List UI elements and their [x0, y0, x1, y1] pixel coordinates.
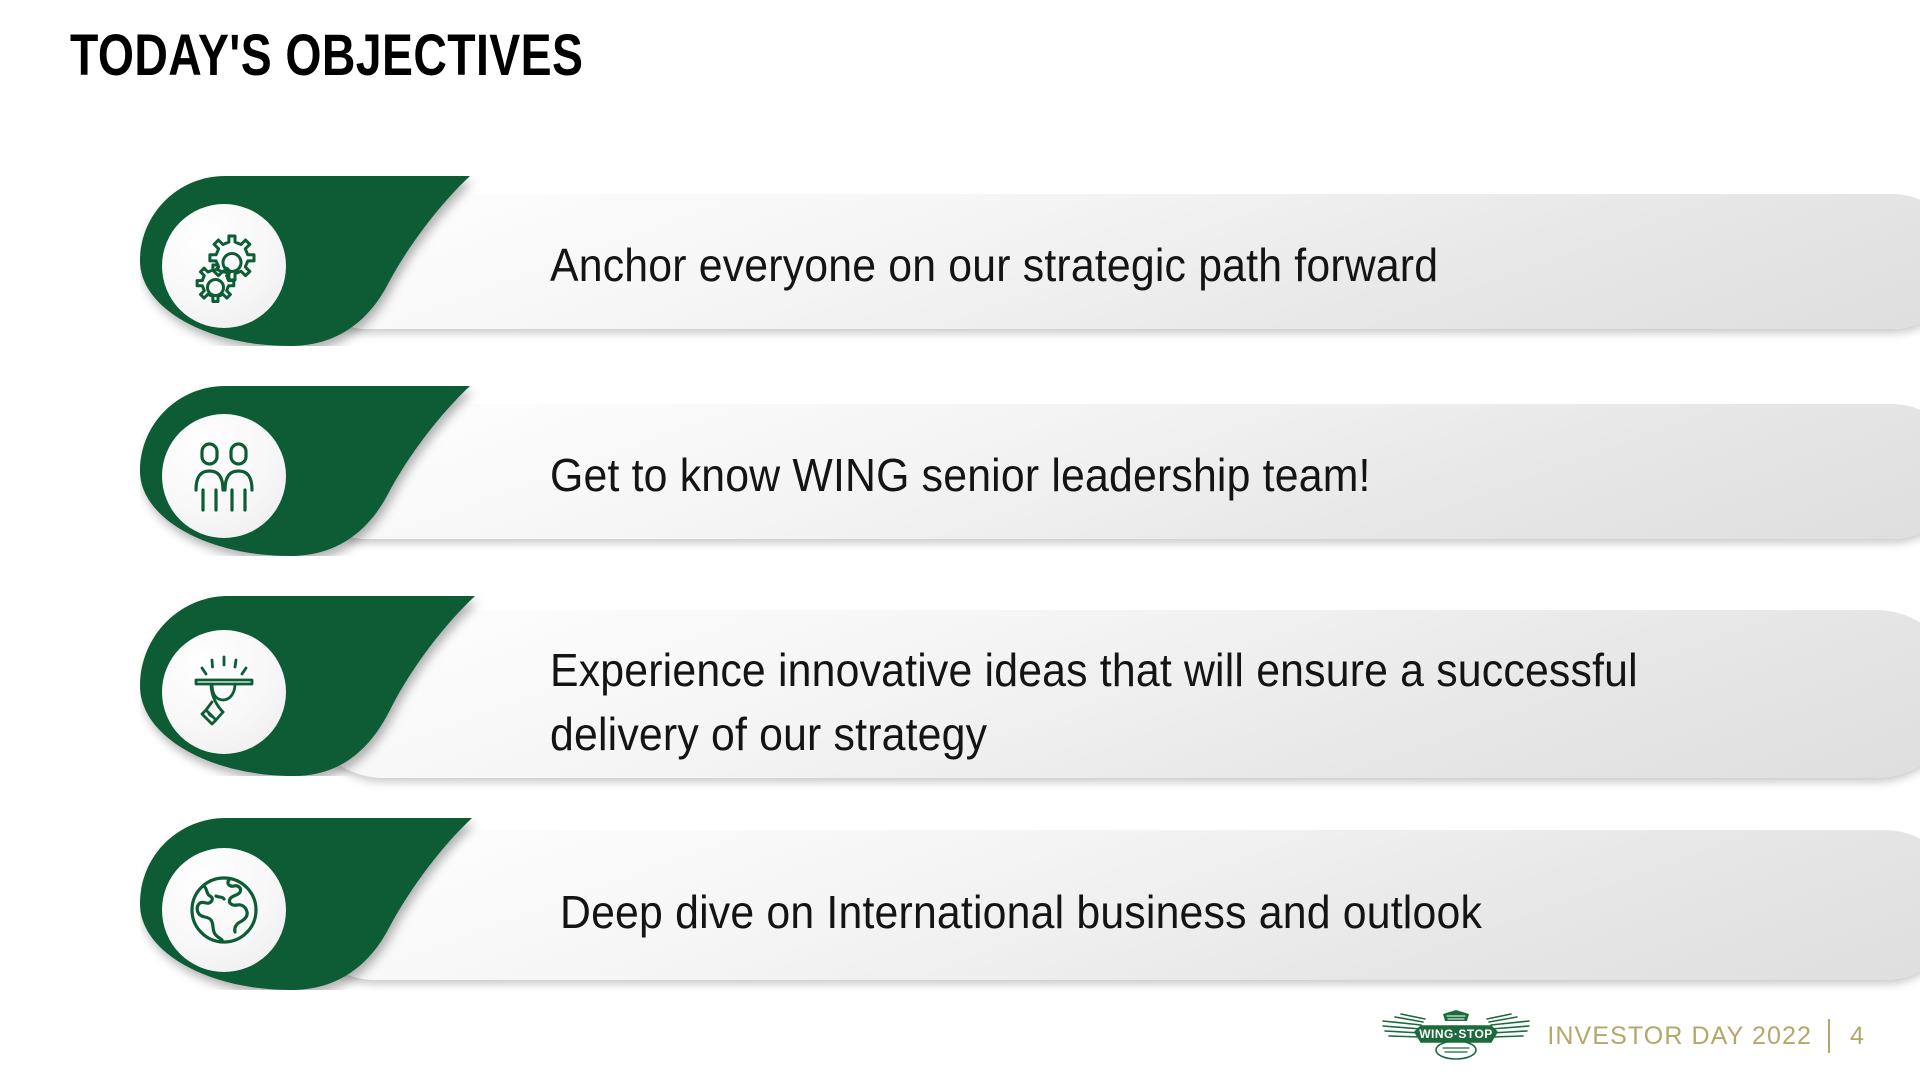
objective-icon-circle [162, 848, 286, 972]
objective-icon-circle [162, 414, 286, 538]
footer-divider [1828, 1019, 1830, 1053]
objective-icon-circle [162, 204, 286, 328]
objective-text: Deep dive on International business and … [560, 880, 1806, 944]
wingstop-logo-icon: WING·STOP [1381, 1008, 1531, 1064]
objective-text: Experience innovative ideas that will en… [550, 638, 1796, 766]
objective-text: Anchor everyone on our strategic path fo… [550, 233, 1796, 297]
gears-icon [182, 224, 266, 308]
objective-text: Get to know WING senior leadership team! [550, 443, 1796, 507]
footer-page-number: 4 [1846, 1022, 1868, 1051]
objectives-list: Anchor everyone on our strategic path fo… [0, 0, 1920, 1080]
serving-tray-icon [182, 650, 266, 734]
globe-icon [182, 868, 266, 952]
slide-footer: WING·STOP INVESTOR DAY 2022 4 [1381, 1008, 1868, 1064]
wingstop-logo-text: WING·STOP [1420, 1027, 1494, 1041]
objective-icon-circle [162, 630, 286, 754]
two-people-icon [182, 434, 266, 518]
footer-event-label: INVESTOR DAY 2022 [1547, 1022, 1812, 1051]
